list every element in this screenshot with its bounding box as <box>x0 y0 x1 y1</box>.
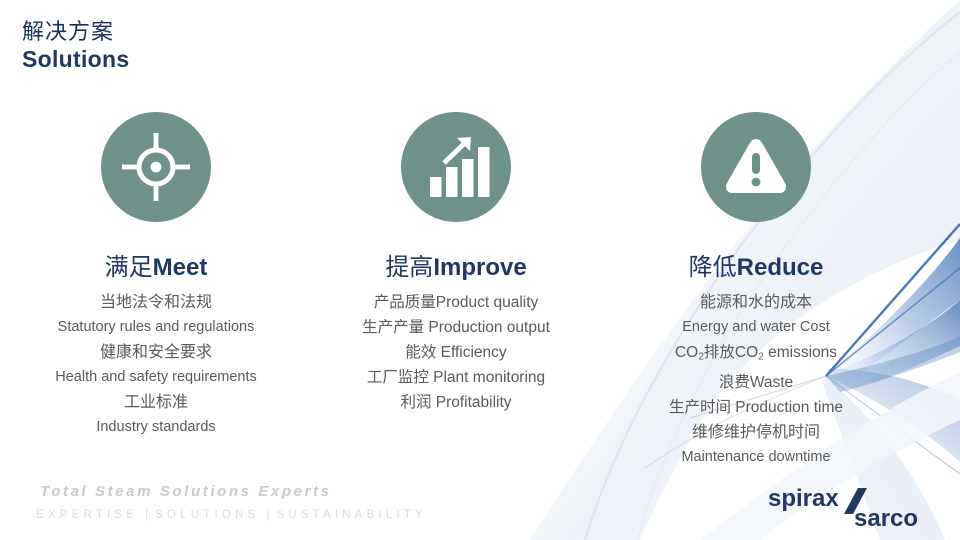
bar-chart-growth-icon <box>401 112 511 222</box>
column-heading-cn: 提高 <box>385 254 433 281</box>
column-heading-en: Meet <box>153 254 208 281</box>
list-item: 健康和安全要求 <box>55 340 257 365</box>
footer-separator: | <box>138 509 155 521</box>
target-crosshair-icon <box>101 112 211 222</box>
logo-word-spirax: spirax <box>768 485 839 512</box>
column-lines-meet: 当地法令和法规 Statutory rules and regulations … <box>55 290 257 440</box>
list-item: 产品质量Product quality <box>362 290 550 315</box>
page-title-cn: 解决方案 <box>22 20 129 45</box>
solutions-columns: 满足Meet 当地法令和法规 Statutory rules and regul… <box>0 112 960 470</box>
column-lines-improve: 产品质量Product quality 生产产量 Production outp… <box>362 290 550 415</box>
column-reduce: 降低Reduce 能源和水的成本 Energy and water Cost C… <box>606 112 906 470</box>
warning-triangle-icon <box>701 112 811 222</box>
list-item: 浪费Waste <box>669 370 843 395</box>
footer-pillar-solutions: SOLUTIONS <box>155 509 259 521</box>
column-heading-en: Improve <box>433 254 526 281</box>
page-title-en: Solutions <box>22 47 129 73</box>
list-item: Energy and water Cost <box>669 315 843 340</box>
spirax-sarco-logo: spirax sarco <box>766 484 938 532</box>
list-item-co2: CO2排放CO2 emissions <box>669 340 843 369</box>
column-heading-en: Reduce <box>737 254 824 281</box>
footer-separator: | <box>259 509 276 521</box>
column-heading-cn: 满足 <box>105 254 153 281</box>
column-improve: 提高Improve 产品质量Product quality 生产产量 Produ… <box>306 112 606 470</box>
list-item: 生产时间 Production time <box>669 395 843 420</box>
footer-pillar-sustainability: SUSTAINABILITY <box>276 509 427 521</box>
list-item: Health and safety requirements <box>55 365 257 390</box>
list-item: 能效 Efficiency <box>362 340 550 365</box>
slide-canvas: 解决方案 Solutions 满足Meet 当地法令和法规 St <box>0 0 960 540</box>
column-heading-reduce: 降低Reduce <box>689 255 824 281</box>
column-heading-cn: 降低 <box>689 254 737 281</box>
list-item: 维修维护停机时间 <box>669 420 843 445</box>
list-item: 生产产量 Production output <box>362 315 550 340</box>
footer-pillar-expertise: EXPERTISE <box>36 509 138 521</box>
footer-tagline: Total Steam Solutions Experts <box>40 483 332 500</box>
list-item: Statutory rules and regulations <box>55 315 257 340</box>
logo-word-sarco: sarco <box>854 505 918 532</box>
list-item: 工业标准 <box>55 390 257 415</box>
column-heading-improve: 提高Improve <box>385 255 526 281</box>
page-title: 解决方案 Solutions <box>22 20 129 72</box>
footer-pillars: EXPERTISE | SOLUTIONS | SUSTAINABILITY <box>36 509 427 521</box>
list-item: Industry standards <box>55 415 257 440</box>
list-item: 当地法令和法规 <box>55 290 257 315</box>
column-meet: 满足Meet 当地法令和法规 Statutory rules and regul… <box>6 112 306 470</box>
column-lines-reduce: 能源和水的成本 Energy and water Cost CO2排放CO2 e… <box>669 290 843 469</box>
column-heading-meet: 满足Meet <box>105 255 208 281</box>
list-item: 利润 Profitability <box>362 390 550 415</box>
list-item: Maintenance downtime <box>669 445 843 470</box>
list-item: 工厂监控 Plant monitoring <box>362 365 550 390</box>
list-item: 能源和水的成本 <box>669 290 843 315</box>
